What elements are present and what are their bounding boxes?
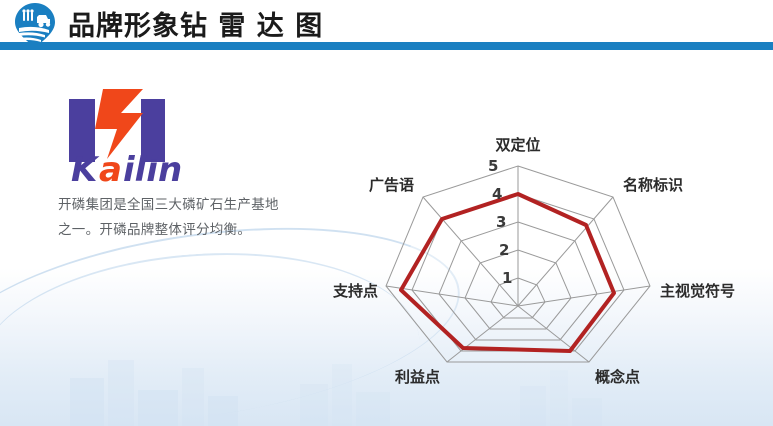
page-title: 品牌形象钻 雷 达 图 xyxy=(68,4,323,43)
radar-tick-5: 5 xyxy=(488,157,498,175)
radar-tick-4: 4 xyxy=(492,185,502,203)
radar-tick-1: 1 xyxy=(502,269,512,287)
radar-chart-svg: 5 4 3 2 1 双定位 名称标识 主视觉符号 概念点 利益点 支持点 广告语 xyxy=(312,70,767,400)
page-header: 品牌形象钻 雷 达 图 xyxy=(0,0,773,50)
slide-body: K a ilin 开磷集团是全国三大磷矿石生产基地之一。开磷品牌整体评分均衡。 xyxy=(0,50,773,426)
radar-axis-label-2: 主视觉符号 xyxy=(660,282,735,300)
radar-axis-label-5: 支持点 xyxy=(332,282,378,300)
svg-text:ilin: ilin xyxy=(123,150,182,183)
header-accent-bar xyxy=(0,42,773,50)
kailin-logo: K a ilin xyxy=(55,85,230,183)
radar-tick-3: 3 xyxy=(496,213,506,231)
radar-axis-label-0: 双定位 xyxy=(495,136,540,154)
brand-description: 开磷集团是全国三大磷矿石生产基地之一。开磷品牌整体评分均衡。 xyxy=(58,193,286,243)
radar-axis-label-4: 利益点 xyxy=(395,368,440,386)
svg-text:K: K xyxy=(71,150,100,183)
radar-axis-label-1: 名称标识 xyxy=(623,176,683,194)
radar-chart: 5 4 3 2 1 双定位 名称标识 主视觉符号 概念点 利益点 支持点 广告语 xyxy=(312,70,767,400)
radar-axis-label-6: 广告语 xyxy=(369,176,414,194)
svg-text:a: a xyxy=(99,150,122,183)
radar-axis-label-3: 概念点 xyxy=(595,368,640,386)
radar-tick-2: 2 xyxy=(499,241,509,259)
